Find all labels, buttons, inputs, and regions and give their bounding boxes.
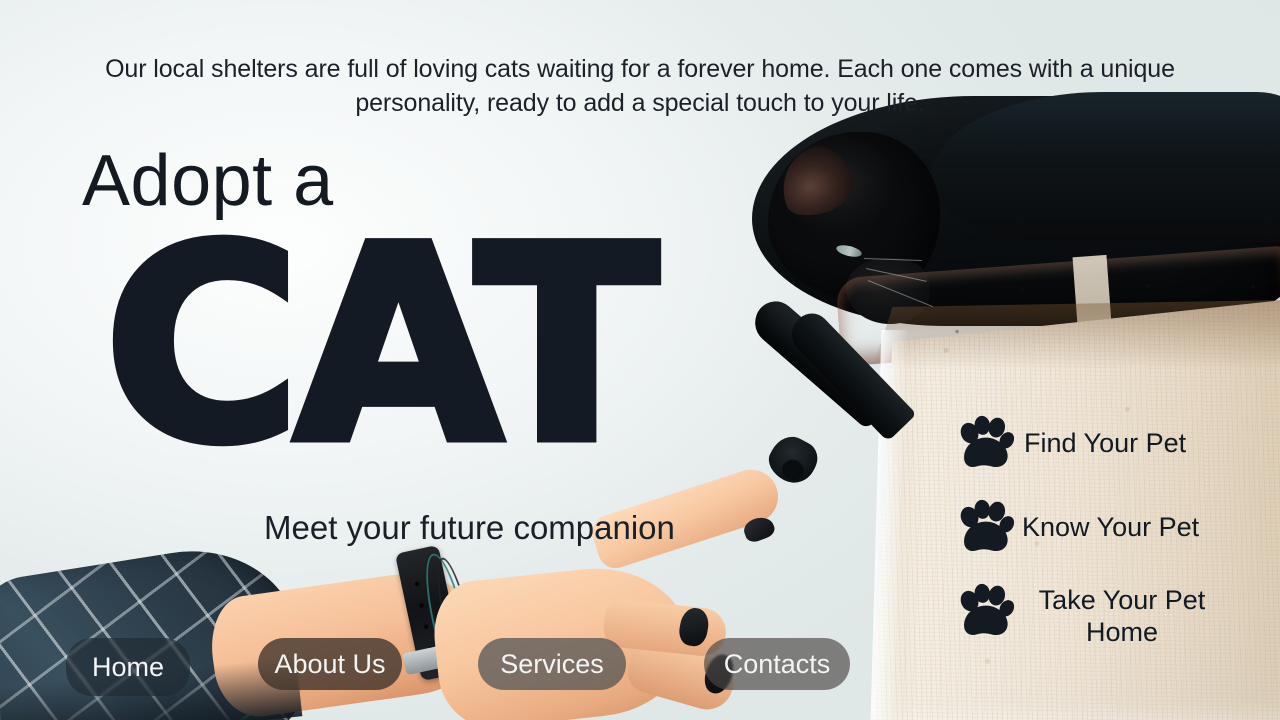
feature-list: Find Your Pet Know Your Pet: [956, 414, 1256, 674]
nav-item-contacts[interactable]: Contacts: [704, 638, 850, 690]
intro-paragraph: Our local shelters are full of loving ca…: [80, 52, 1200, 120]
pillar-shadow: [872, 300, 1280, 370]
page-title: CAT: [104, 212, 652, 480]
nav-item-about-us[interactable]: About Us: [258, 638, 402, 690]
paw-print-icon: [956, 582, 1014, 640]
tagline-text: Meet your future companion: [264, 508, 675, 548]
feature-item-know-your-pet[interactable]: Know Your Pet: [956, 498, 1256, 556]
nav-item-services[interactable]: Services: [478, 638, 626, 690]
feature-label: Know Your Pet: [1022, 511, 1199, 543]
feature-item-find-your-pet[interactable]: Find Your Pet: [956, 414, 1256, 472]
hero-stage: Our local shelters are full of loving ca…: [0, 0, 1280, 720]
nav-item-home[interactable]: Home: [66, 638, 190, 696]
main-navigation: Home About Us Services Contacts: [0, 636, 1280, 720]
paw-print-icon: [956, 498, 1014, 556]
paw-print-icon: [956, 414, 1014, 472]
feature-label: Find Your Pet: [1024, 427, 1186, 459]
